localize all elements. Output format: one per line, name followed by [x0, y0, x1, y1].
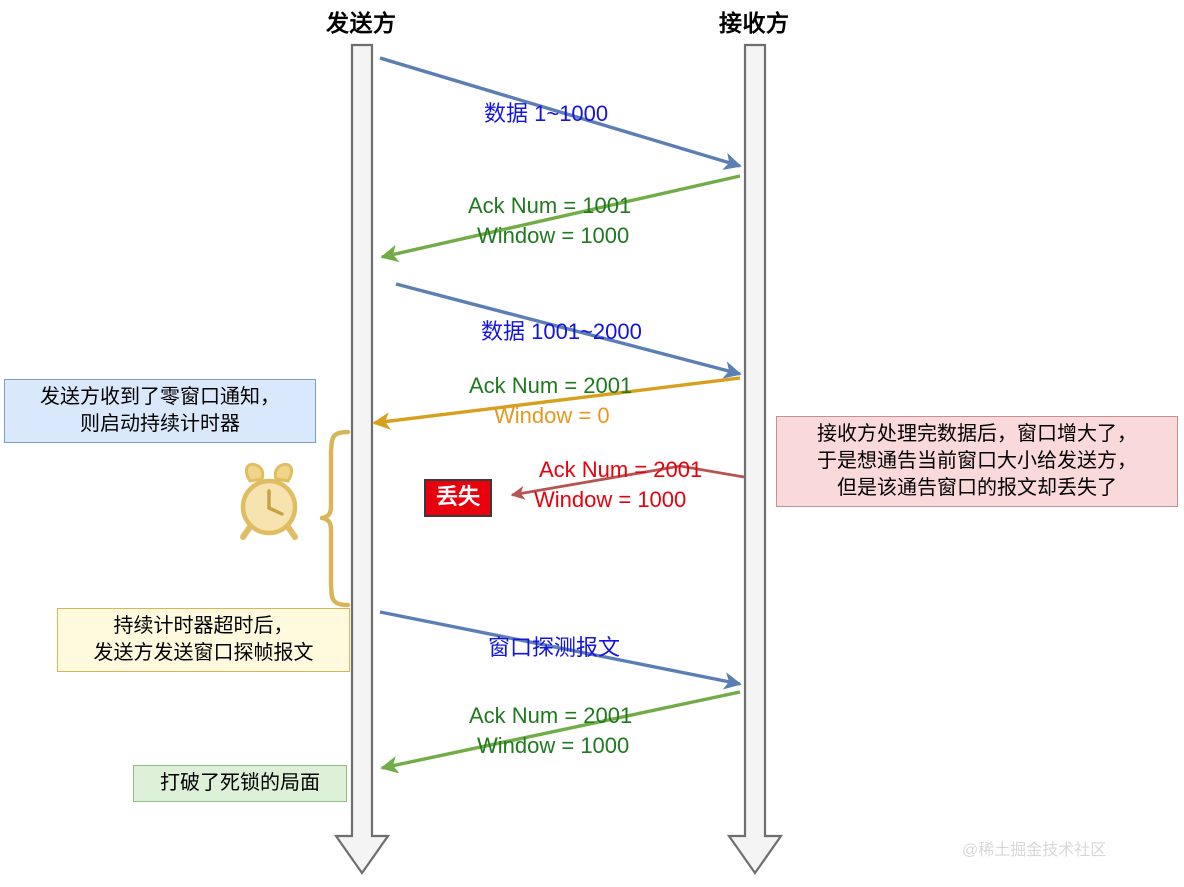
label-final-ack-num: Ack Num = 2001 [469, 701, 632, 731]
note-deadlock-broken: 打破了死锁的局面 [133, 765, 347, 802]
label-ack-2001-num: Ack Num = 2001 [469, 371, 632, 401]
alarm-clock-icon [243, 464, 295, 537]
label-ack-2001-window-zero: Window = 0 [494, 401, 610, 431]
label-data-1001-2000: 数据 1001~2000 [481, 317, 642, 347]
label-lost-ack-num: Ack Num = 2001 [539, 455, 702, 485]
timeline-sender [336, 45, 388, 873]
timeline-receiver [729, 45, 781, 873]
lost-packet-badge: 丢失 [424, 479, 492, 517]
note-sender-zero-window: 发送方收到了零窗口通知， 则启动持续计时器 [4, 379, 316, 443]
note-receiver-window-grew: 接收方处理完数据后，窗口增大了， 于是想通告当前窗口大小给发送方， 但是该通告窗… [776, 416, 1178, 507]
note-persist-timer-timeout: 持续计时器超时后， 发送方发送窗口探帧报文 [57, 608, 350, 672]
label-window-probe: 窗口探测报文 [488, 633, 620, 663]
label-final-ack-window: Window = 1000 [477, 731, 629, 761]
label-ack-1001-num: Ack Num = 1001 [468, 191, 631, 221]
curly-brace-icon [322, 432, 348, 605]
watermark: @稀土掘金技术社区 [962, 836, 1106, 860]
label-data-1-1000: 数据 1~1000 [484, 99, 608, 129]
diagram-canvas: 发送方 接收方 [0, 0, 1184, 887]
label-lost-window: Window = 1000 [534, 485, 686, 515]
label-ack-1001-window: Window = 1000 [477, 221, 629, 251]
